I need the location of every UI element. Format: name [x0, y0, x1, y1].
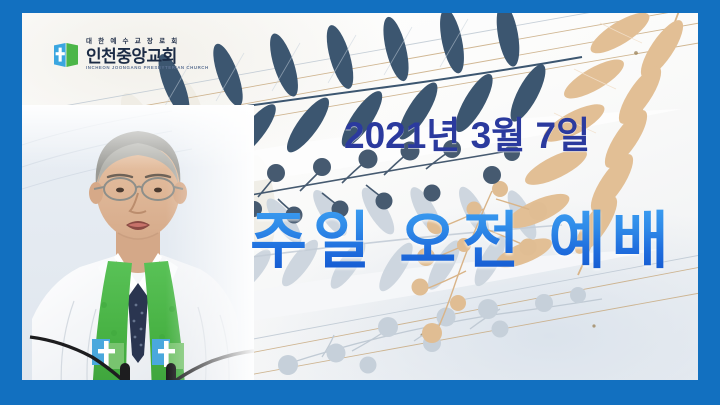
- open-book-cross-icon: [52, 39, 80, 69]
- title-card-canvas: 대 한 예 수 교 장 로 회 인천중앙교회 INCHEON JOONGANG …: [22, 13, 698, 380]
- pastor-preaching-photo: [22, 105, 254, 380]
- church-logo[interactable]: 대 한 예 수 교 장 로 회 인천중앙교회 INCHEON JOONGANG …: [52, 39, 209, 70]
- broadcast-title-card: 대 한 예 수 교 장 로 회 인천중앙교회 INCHEON JOONGANG …: [0, 0, 720, 405]
- service-date: 2021년 3월 7일: [344, 117, 590, 154]
- logo-english-name: INCHEON JOONGANG PRESBYTERIAN CHURCH: [86, 66, 209, 70]
- logo-denomination: 대 한 예 수 교 장 로 회: [86, 39, 209, 46]
- service-title: 주일 오전 예배: [250, 209, 675, 274]
- pastor-photo-illustration: [22, 105, 254, 380]
- logo-church-name: 인천중앙교회: [86, 48, 209, 65]
- logo-text-block: 대 한 예 수 교 장 로 회 인천중앙교회 INCHEON JOONGANG …: [86, 39, 209, 70]
